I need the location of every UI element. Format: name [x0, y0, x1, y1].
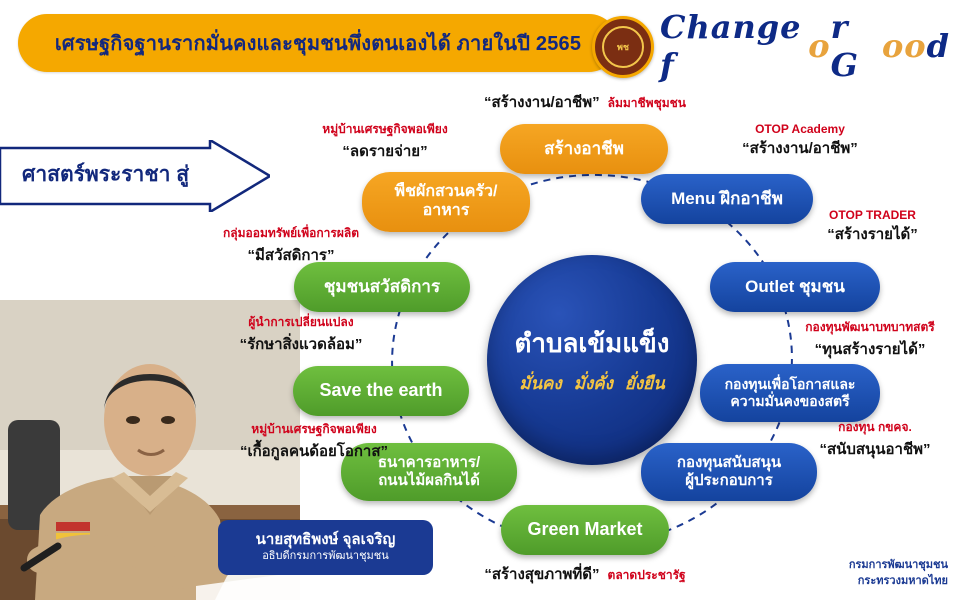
person-name: นายสุทธิพงษ์ จุลเจริญ: [256, 531, 396, 550]
slogan-part-2: r G: [831, 8, 882, 84]
node-community-outlet[interactable]: Outlet ชุมชน: [710, 262, 880, 312]
node-menu-training[interactable]: Menu ฝึกอาชีพ: [641, 174, 813, 224]
node-label: พืชผักสวนครัว/ อาหาร: [395, 183, 498, 221]
center-circle: ตำบลเข้มแข็ง มั่นคง มั่งคั่ง ยั่งยืน: [487, 255, 697, 465]
node-label: กองทุนเพื่อโอกาสและ ความมั่นคงของสตรี: [725, 376, 856, 409]
annotation-income-capital: กองทุนพัฒนาบทบาทสตรี “ทุนสร้างรายได้”: [780, 318, 960, 361]
annotation-source: ผู้นำการเปลี่ยนแปลง: [196, 313, 406, 332]
annotation-reduce-expense: หมู่บ้านเศรษฐกิจพอเพียง “ลดรายจ่าย”: [280, 120, 490, 163]
footer-line-2: กระทรวงมหาดไทย: [849, 574, 948, 590]
name-plate: นายสุทธิพงษ์ จุลเจริญ อธิบดีกรมการพัฒนาช…: [218, 520, 433, 575]
node-label: สร้างอาชีพ: [544, 139, 624, 159]
footer-line-1: กรมการพัฒนาชุมชน: [849, 558, 948, 574]
annotation-support-career: กองทุน กขคจ. “สนับสนุนอาชีพ”: [790, 418, 960, 461]
annotation-text: “เกื้อกูลคนด้อยโอกาส”: [198, 439, 430, 463]
slogan-o-1: o: [808, 27, 830, 65]
node-label: ชุมชนสวัสดิการ: [324, 277, 440, 297]
annotation-text: “สร้างสุขภาพที่ดี”: [484, 562, 599, 586]
node-green-market[interactable]: Green Market: [501, 505, 669, 555]
infographic-canvas: เศรษฐกิจฐานรากมั่นคงและชุมชนพึ่งตนเองได้…: [0, 0, 960, 600]
annotation-source: OTOP TRADER: [790, 208, 955, 222]
slogan-part-3: d: [927, 27, 950, 65]
annotation-create-income: OTOP TRADER “สร้างรายได้”: [790, 208, 955, 246]
center-keyword-1: มั่นคง: [519, 370, 562, 397]
arrow-label: ศาสตร์พระราชา สู่: [22, 158, 242, 191]
node-sang-acheep[interactable]: สร้างอาชีพ: [500, 124, 668, 174]
node-women-fund[interactable]: กองทุนเพื่อโอกาสและ ความมั่นคงของสตรี: [700, 364, 880, 422]
annotation-text: “สร้างรายได้”: [790, 222, 955, 246]
change-for-good-slogan: Change for Good: [660, 18, 950, 74]
node-label: Green Market: [527, 519, 642, 540]
annotation-text: “ทุนสร้างรายได้”: [780, 337, 960, 361]
annotation-source: กองทุน กขคจ.: [790, 418, 960, 437]
annotation-text: “ลดรายจ่าย”: [280, 139, 490, 163]
annotation-text: “สนับสนุนอาชีพ”: [790, 437, 960, 461]
node-vegetable-garden[interactable]: พืชผักสวนครัว/ อาหาร: [362, 172, 530, 232]
annotation-environment: ผู้นำการเปลี่ยนแปลง “รักษาสิ่งแวดล้อม”: [196, 313, 406, 356]
annotation-text: “สร้างงาน/อาชีพ”: [484, 90, 600, 114]
node-community-welfare[interactable]: ชุมชนสวัสดิการ: [294, 262, 470, 312]
center-keywords: มั่นคง มั่งคั่ง ยั่งยืน: [519, 370, 665, 397]
annotation-support-disadvantaged: หมู่บ้านเศรษฐกิจพอเพียง “เกื้อกูลคนด้อยโ…: [198, 420, 430, 463]
annotation-source: หมู่บ้านเศรษฐกิจพอเพียง: [198, 420, 430, 439]
annotation-sang-ngan-acheep-top: “สร้างงาน/อาชีพ” ล้มมาชีพชุมชน: [440, 90, 730, 114]
center-keyword-3: ยั่งยืน: [625, 370, 665, 397]
annotation-source: ล้มมาชีพชุมชน: [608, 94, 686, 113]
cdd-seal-icon: พช: [592, 16, 654, 78]
annotation-good-health: “สร้างสุขภาพที่ดี” ตลาดประชารัฐ: [430, 562, 740, 586]
node-label: Outlet ชุมชน: [745, 277, 845, 297]
annotation-welfare: กลุ่มออมทรัพย์เพื่อการผลิต “มีสวัสดิการ”: [176, 224, 406, 267]
node-label: Menu ฝึกอาชีพ: [671, 189, 783, 209]
slogan-part-1: Change f: [660, 8, 808, 84]
annotation-source: กองทุนพัฒนาบทบาทสตรี: [780, 318, 960, 337]
center-keyword-2: มั่งคั่ง: [574, 370, 613, 397]
annotation-source: OTOP Academy: [700, 122, 900, 136]
annotation-text: “สร้างงาน/อาชีพ”: [700, 136, 900, 160]
person-title: อธิบดีกรมการพัฒนาชุมชน: [262, 550, 389, 564]
royal-philosophy-arrow: ศาสตร์พระราชา สู่: [0, 140, 280, 212]
node-label: Save the earth: [319, 380, 442, 401]
footer-credit: กรมการพัฒนาชุมชน กระทรวงมหาดไทย: [849, 558, 948, 590]
seal-label: พช: [602, 26, 644, 68]
slogan-o-2: oo: [882, 27, 927, 65]
node-save-the-earth[interactable]: Save the earth: [293, 366, 469, 416]
node-label: กองทุนสนับสนุน ผู้ประกอบการ: [677, 454, 781, 489]
annotation-text: “มีสวัสดิการ”: [176, 243, 406, 267]
annotation-text: “รักษาสิ่งแวดล้อม”: [196, 332, 406, 356]
annotation-source: กลุ่มออมทรัพย์เพื่อการผลิต: [176, 224, 406, 243]
header-banner: เศรษฐกิจฐานรากมั่นคงและชุมชนพึ่งตนเองได้…: [18, 14, 618, 72]
annotation-otop-academy: OTOP Academy “สร้างงาน/อาชีพ”: [700, 122, 900, 160]
center-title: ตำบลเข้มแข็ง: [515, 323, 670, 364]
annotation-source: หมู่บ้านเศรษฐกิจพอเพียง: [280, 120, 490, 139]
banner-title: เศรษฐกิจฐานรากมั่นคงและชุมชนพึ่งตนเองได้…: [55, 27, 581, 59]
annotation-source: ตลาดประชารัฐ: [608, 566, 686, 585]
